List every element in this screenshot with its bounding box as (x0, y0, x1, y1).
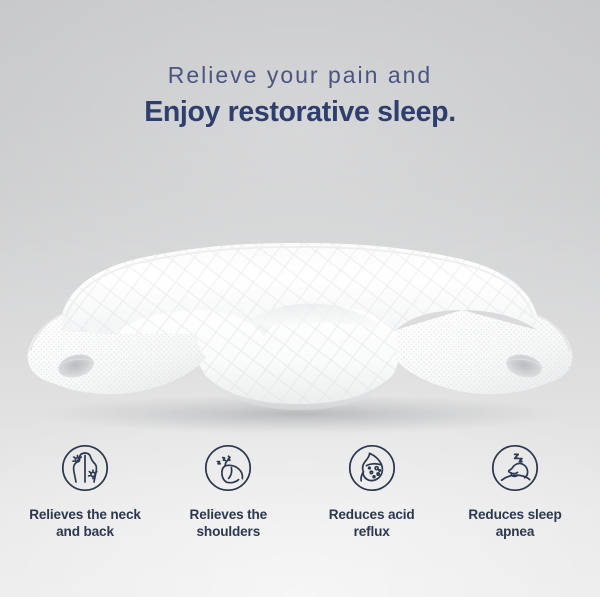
feature-label: Reduces acid reflux (329, 506, 415, 541)
feature-label: Relieves the shoulders (190, 506, 268, 541)
feature-item-shoulders: Relieves the shoulders (157, 443, 299, 541)
feature-item-neck-back: Relieves the neck and back (14, 443, 156, 541)
shoulder-pain-icon (203, 443, 253, 493)
feature-item-acid-reflux: Reduces acid reflux (301, 443, 443, 541)
headline-line-2: Enjoy restorative sleep. (0, 96, 600, 129)
stomach-acid-icon (347, 443, 397, 493)
headline-block: Relieve your pain and Enjoy restorative … (0, 62, 600, 129)
feature-item-sleep-apnea: Reduces sleep apnea (444, 443, 586, 541)
feature-label: Relieves the neck and back (29, 506, 141, 541)
product-promo-card: Relieve your pain and Enjoy restorative … (0, 0, 600, 597)
feature-list: Relieves the neck and back (0, 443, 600, 541)
back-pain-icon (60, 443, 110, 493)
product-image (0, 218, 600, 433)
sleep-apnea-icon (490, 443, 540, 493)
feature-label: Reduces sleep apnea (468, 506, 561, 541)
headline-line-1: Relieve your pain and (0, 62, 600, 89)
